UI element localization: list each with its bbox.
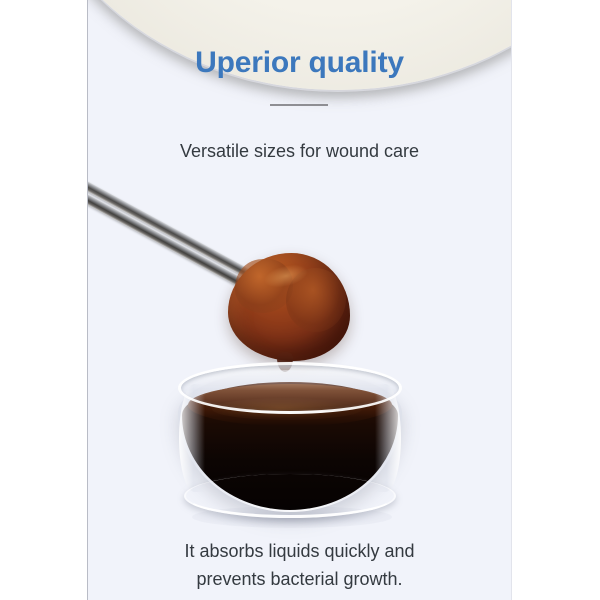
dish-rim-base bbox=[184, 474, 396, 518]
dish-rim-top bbox=[178, 362, 402, 414]
product-photo bbox=[88, 0, 511, 600]
content-panel: Uperior quality Versatile sizes for woun… bbox=[88, 0, 511, 600]
footer-caption-line-2: prevents bacterial growth. bbox=[88, 565, 511, 593]
product-feature-card: Uperior quality Versatile sizes for woun… bbox=[0, 0, 600, 600]
panel-edge-right bbox=[511, 0, 512, 600]
footer-caption: It absorbs liquids quickly and prevents … bbox=[88, 537, 511, 593]
petri-dish bbox=[178, 362, 402, 520]
panel-edge-left bbox=[87, 0, 88, 600]
footer-caption-line-1: It absorbs liquids quickly and bbox=[88, 537, 511, 565]
page-title: Uperior quality bbox=[88, 46, 511, 80]
title-divider bbox=[270, 104, 328, 106]
subtitle: Versatile sizes for wound care bbox=[88, 141, 511, 162]
